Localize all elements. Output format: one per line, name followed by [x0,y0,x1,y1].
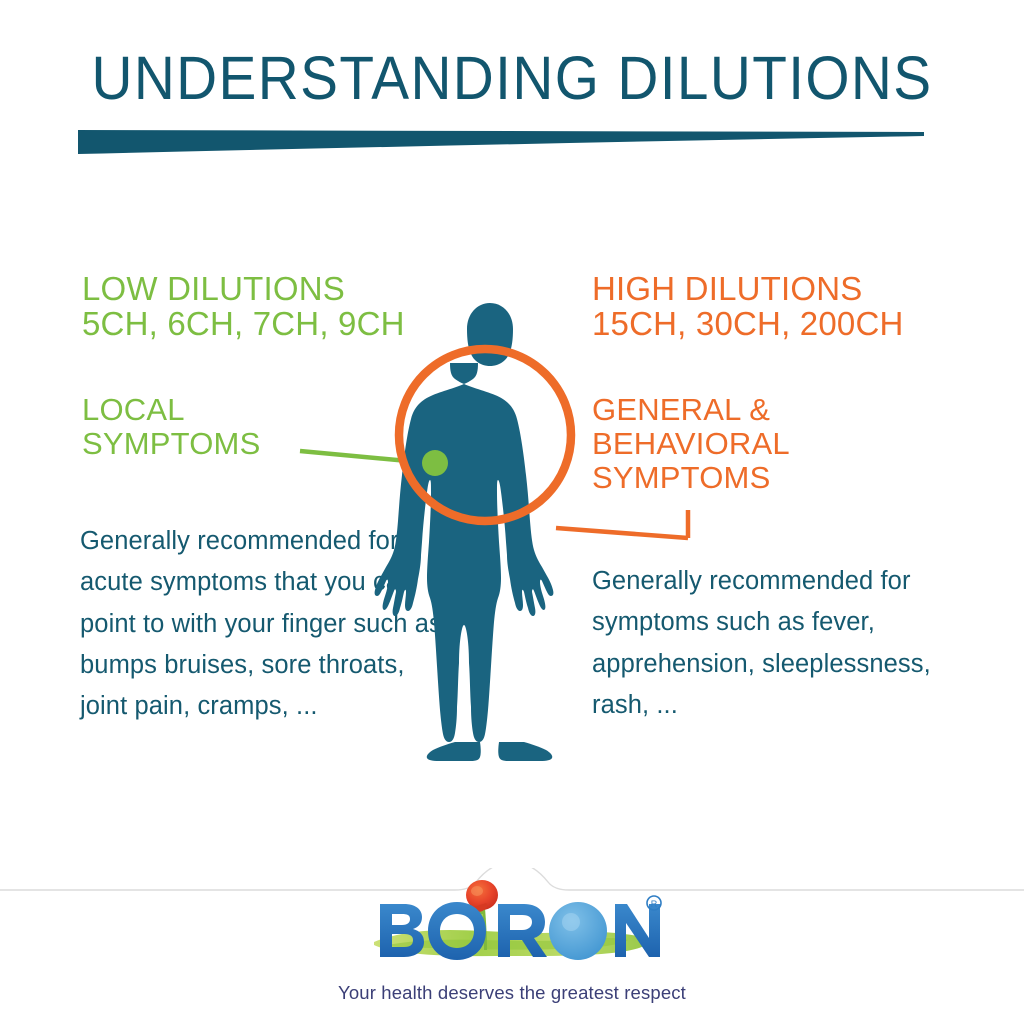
local-symptoms-description: Generally recommended for acute symptoms… [80,521,452,727]
high-dilutions-heading: HIGH DILUTIONS 15CH, 30CH, 200CH [592,271,904,342]
infographic-page: UNDERSTANDING DILUTIONS LOW DILUTIONS 5C… [0,0,1024,1024]
general-symptoms-leader-line [556,510,688,538]
general-symptoms-description: Generally recommended for symptoms such … [592,561,962,726]
brand-tagline: Your health deserves the greatest respec… [0,982,1024,1004]
low-dilutions-heading: LOW DILUTIONS 5CH, 6CH, 7CH, 9CH [82,271,405,342]
page-title: UNDERSTANDING DILUTIONS [36,48,988,109]
registered-trademark-icon: R [647,896,661,910]
boiron-logo[interactable]: R [0,880,1024,977]
title-underline-wedge [78,130,924,156]
svg-text:R: R [651,899,658,909]
highlight-circle [399,349,571,521]
boiron-logo-mark: R [362,880,662,972]
local-symptoms-leader-line [300,451,440,464]
local-symptom-marker-dot [422,450,448,476]
general-behavioral-symptoms-heading: GENERAL & BEHAVIORAL SYMPTOMS [592,393,790,494]
local-symptoms-heading: LOCAL SYMPTOMS [82,393,260,461]
